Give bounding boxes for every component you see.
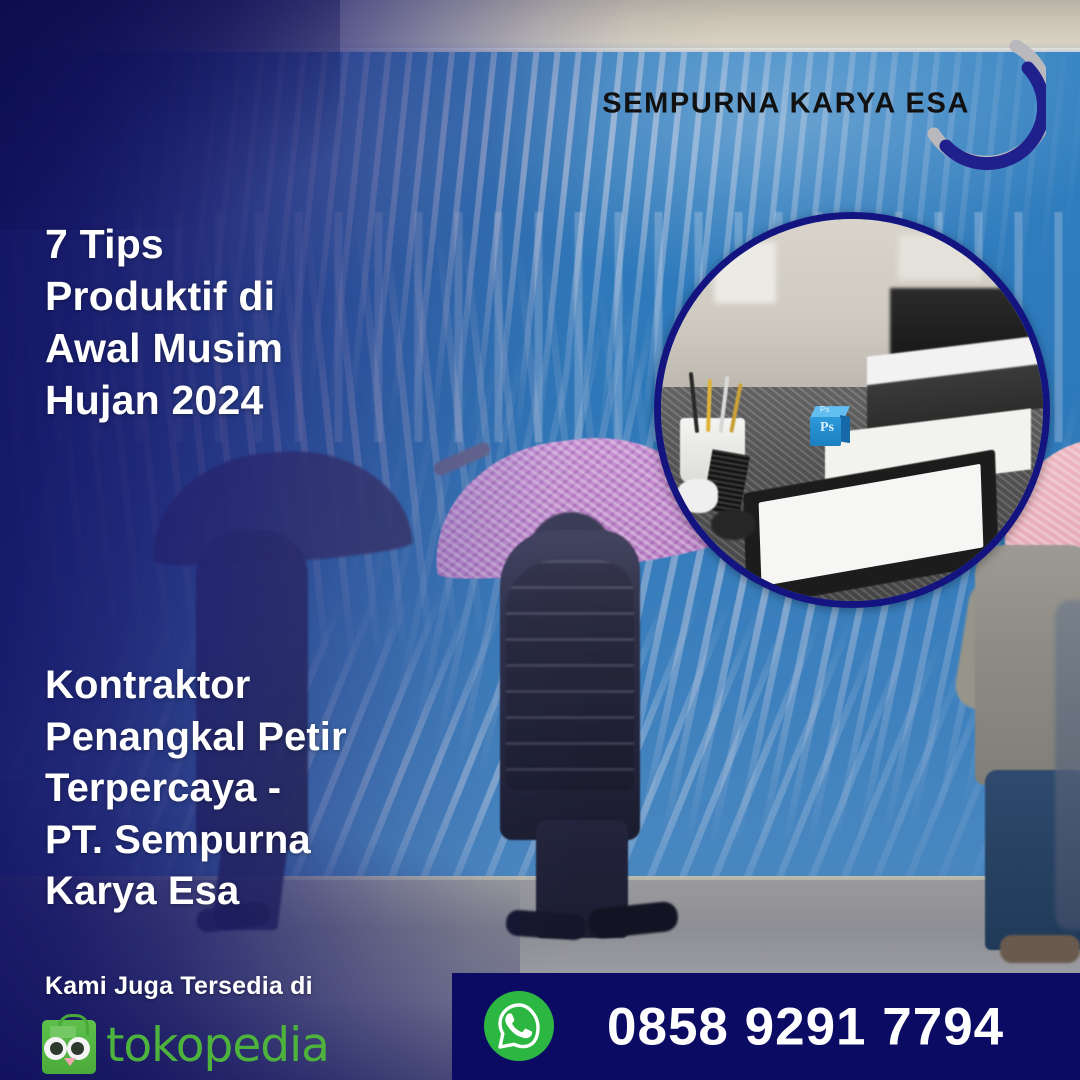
tokopedia-owl-eye-left — [44, 1037, 67, 1060]
headline-line-4: Hujan 2024 — [45, 374, 415, 426]
headline-line-1: 7 Tips — [45, 218, 415, 270]
brand-logo: SEMPURNA KARYA ESA — [654, 26, 1054, 176]
subheadline-line-1: Kontraktor — [45, 660, 465, 712]
photoshop-ps-cube-icon: Ps Ps — [810, 406, 850, 446]
subheadline-line-4: PT. Sempurna — [45, 815, 465, 867]
headline: 7 Tips Produktif di Awal Musim Hujan 202… — [45, 218, 415, 426]
tokopedia-owl-bag-icon — [42, 1020, 96, 1074]
tokopedia-owl-pupil-left — [50, 1042, 63, 1055]
subheadline-line-2: Penangkal Petir — [45, 712, 465, 764]
ps-cube-top-label: Ps — [820, 405, 830, 414]
phone-number[interactable]: 0858 9291 7794 — [607, 996, 1004, 1057]
inset-mouse — [711, 509, 757, 540]
inset-wall-panel-2 — [898, 234, 982, 280]
tokopedia-owl-eye-right — [67, 1037, 90, 1060]
inset-wall-panel — [714, 242, 775, 303]
subheadline-line-3: Terpercaya - — [45, 763, 465, 815]
subheadline-line-5: Karya Esa — [45, 866, 465, 918]
brand-name: SEMPURNA KARYA ESA — [602, 88, 970, 121]
inset-tissue — [676, 479, 718, 513]
availability-label: Kami Juga Tersedia di — [45, 972, 313, 1001]
contact-bar[interactable]: 0858 9291 7794 — [452, 973, 1080, 1080]
whatsapp-icon[interactable] — [484, 991, 554, 1061]
navy-gradient-top-left — [0, 0, 340, 230]
headline-line-2: Produktif di — [45, 270, 415, 322]
headline-line-3: Awal Musim — [45, 322, 415, 374]
tokopedia-logo[interactable]: tokopedia — [40, 1016, 310, 1076]
poster-canvas: SEMPURNA KARYA ESA Ps — [0, 0, 1080, 1080]
ps-cube-label: Ps — [814, 421, 840, 435]
subheadline: Kontraktor Penangkal Petir Terpercaya - … — [45, 660, 465, 918]
tokopedia-wordmark: tokopedia — [106, 1022, 329, 1069]
inset-circular-photo: Ps Ps — [654, 212, 1050, 608]
tokopedia-owl-beak — [64, 1058, 76, 1066]
tokopedia-owl-pupil-right — [71, 1042, 84, 1055]
desk-workspace-scene: Ps Ps — [661, 219, 1043, 601]
ps-cube-side-face — [840, 415, 850, 443]
